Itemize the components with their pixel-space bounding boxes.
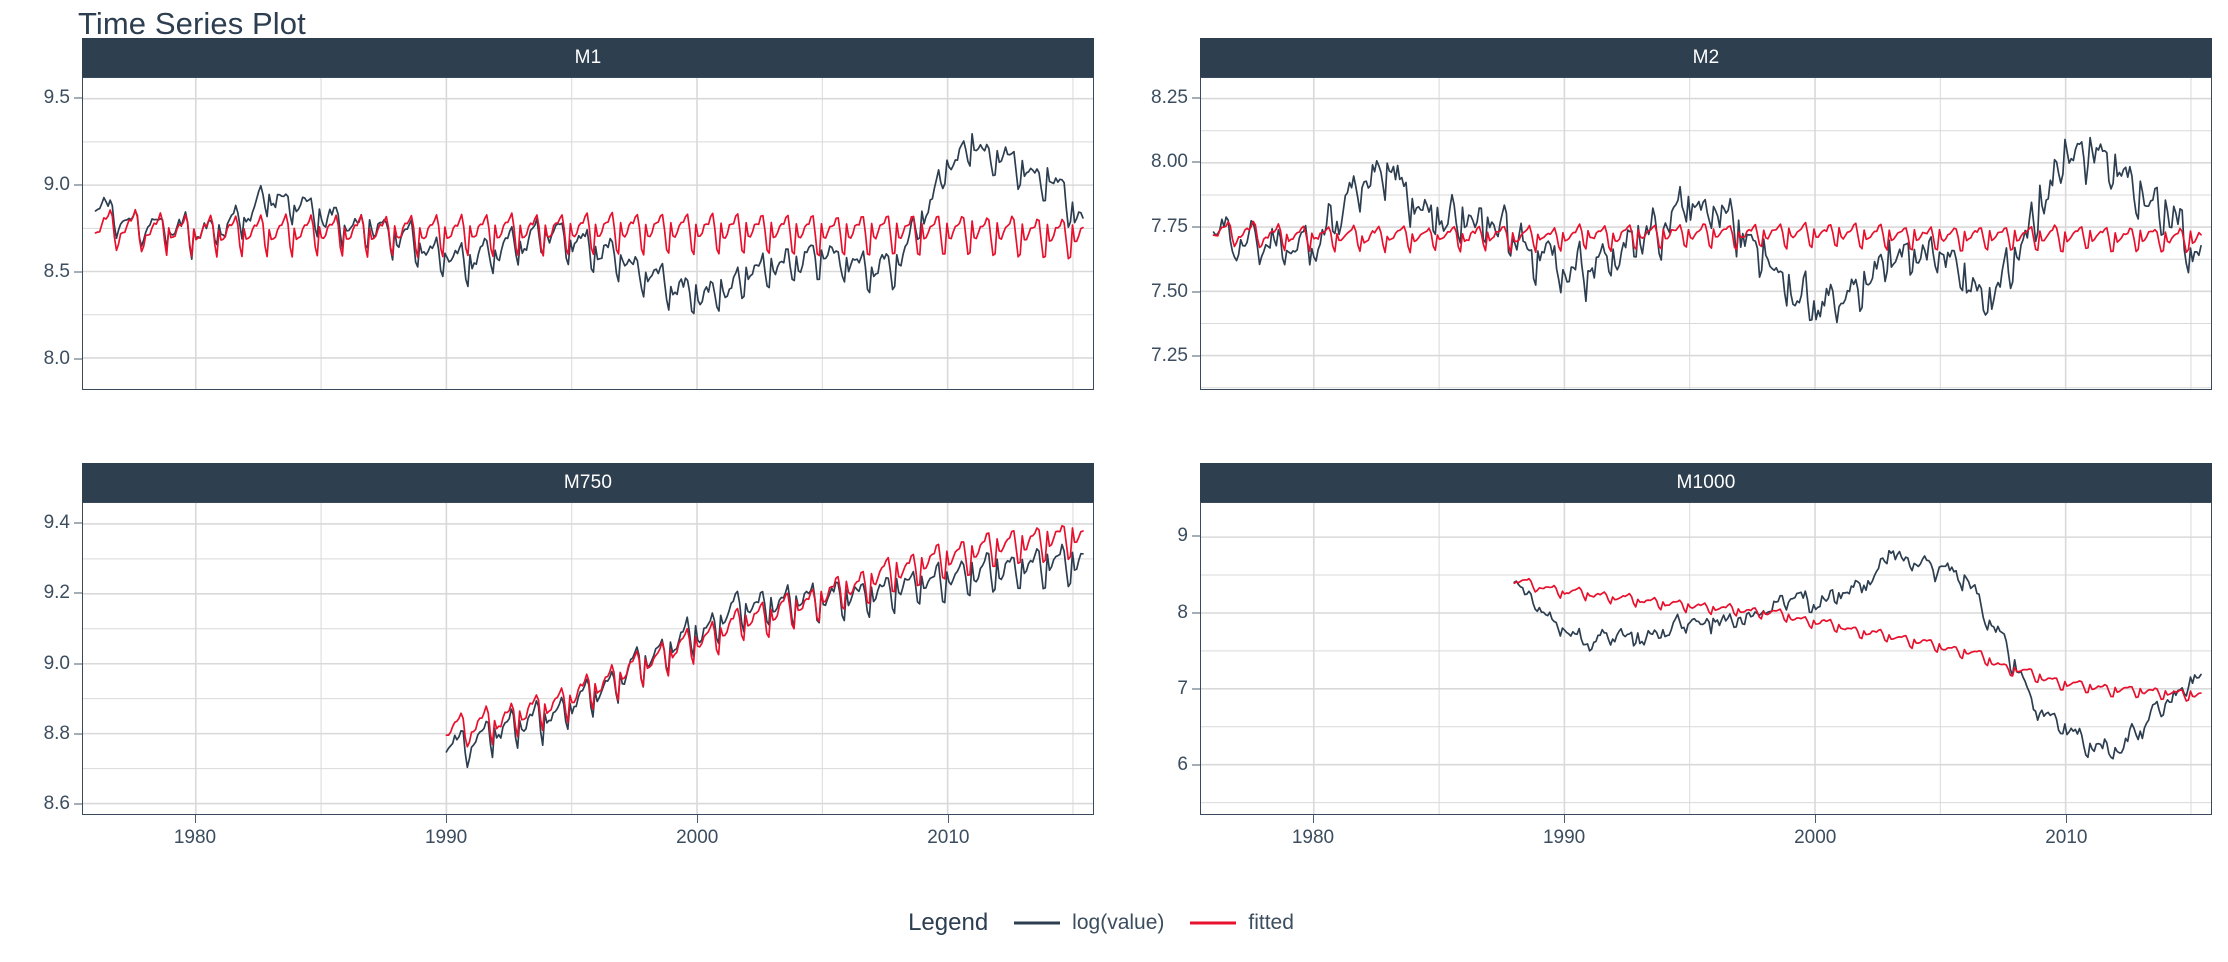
strip-label: M1 [575,47,602,69]
x-axis-m1000: 1980199020002010 [1200,815,2212,855]
y-axis-tick-mark [74,593,82,594]
y-axis-tick-label: 6 [1177,754,1188,776]
y-axis-tick-mark [74,271,82,272]
plot-area-m1000 [1200,502,2212,815]
line-key-observed [1014,914,1060,932]
y-axis-tick-mark [74,358,82,359]
y-axis-tick-mark [1192,689,1200,690]
time-series-plot-root: Time Series Plot M18.08.59.09.5M27.257.5… [0,0,2228,962]
y-axis-tick-label: 8.00 [1151,151,1188,173]
y-axis-m1000: 6789 [1110,502,1200,815]
y-axis-tick-label: 9.4 [44,512,70,534]
legend-label-fitted: fitted [1248,911,1294,935]
facet-strip-m750: M750 [82,463,1094,502]
facet-strip-m2: M2 [1200,38,2212,77]
x-axis-m750: 1980199020002010 [82,815,1094,855]
y-axis-tick-mark [1192,536,1200,537]
x-axis-tick-mark [195,815,196,823]
y-axis-tick-label: 7.50 [1151,281,1188,303]
facet-panel-m1: M1 [82,38,1094,390]
facet-grid: M18.08.59.09.5M27.257.507.758.008.25M750… [0,38,2228,828]
line-key-fitted [1190,914,1236,932]
x-axis-tick-label: 2000 [1794,827,1836,849]
x-axis-tick-label: 1990 [1543,827,1585,849]
series-line-fitted [1514,579,2201,701]
y-axis-tick-label: 9.5 [44,87,70,109]
y-axis-tick-label: 8.25 [1151,87,1188,109]
page-title: Time Series Plot [78,6,306,42]
strip-label: M750 [564,472,612,494]
strip-label: M1000 [1676,472,1735,494]
plot-area-m1 [82,77,1094,390]
y-axis-tick-label: 8.8 [44,723,70,745]
y-axis-tick-mark [1192,356,1200,357]
y-axis-tick-mark [74,804,82,805]
x-axis-tick-mark [1313,815,1314,823]
y-axis-tick-label: 8 [1177,602,1188,624]
y-axis-tick-label: 9.0 [44,174,70,196]
y-axis-tick-mark [1192,765,1200,766]
x-axis-tick-label: 2000 [676,827,718,849]
plot-area-m2 [1200,77,2212,390]
facet-strip-m1000: M1000 [1200,463,2212,502]
y-axis-tick-label: 9 [1177,525,1188,547]
y-axis-tick-mark [74,734,82,735]
y-axis-tick-mark [74,663,82,664]
x-axis-tick-mark [1815,815,1816,823]
legend-label-observed: log(value) [1072,911,1164,935]
y-axis-m2: 7.257.507.758.008.25 [1110,77,1200,390]
y-axis-tick-label: 8.0 [44,348,70,370]
x-axis-tick-mark [1564,815,1565,823]
y-axis-tick-label: 7.25 [1151,345,1188,367]
y-axis-tick-mark [1192,162,1200,163]
legend-item-fitted[interactable]: fitted [1190,911,1294,935]
strip-label: M2 [1693,47,1720,69]
y-axis-tick-mark [1192,612,1200,613]
x-axis-tick-mark [948,815,949,823]
y-axis-tick-label: 8.6 [44,793,70,815]
y-axis-tick-label: 8.5 [44,261,70,283]
y-axis-m750: 8.68.89.09.29.4 [0,502,82,815]
y-axis-tick-label: 7.75 [1151,216,1188,238]
x-axis-tick-label: 1980 [1292,827,1334,849]
y-axis-m1: 8.08.59.09.5 [0,77,82,390]
plot-area-m750 [82,502,1094,815]
y-axis-tick-mark [1192,97,1200,98]
y-axis-tick-label: 9.0 [44,653,70,675]
x-axis-tick-mark [697,815,698,823]
x-axis-tick-label: 1980 [174,827,216,849]
series-line-fitted [1214,222,2201,253]
y-axis-tick-mark [74,97,82,98]
facet-panel-m1000: M1000 [1200,463,2212,815]
x-axis-tick-mark [446,815,447,823]
x-axis-tick-mark [2066,815,2067,823]
facet-strip-m1: M1 [82,38,1094,77]
legend: Legend log(value) fitted [0,900,2228,946]
x-axis-tick-label: 1990 [425,827,467,849]
y-axis-tick-mark [1192,227,1200,228]
y-axis-tick-mark [74,523,82,524]
facet-panel-m750: M750 [82,463,1094,815]
legend-item-observed[interactable]: log(value) [1014,911,1164,935]
series-line-observed [1514,551,2201,759]
legend-title: Legend [908,909,988,937]
facet-panel-m2: M2 [1200,38,2212,390]
y-axis-tick-label: 9.2 [44,582,70,604]
y-axis-tick-label: 7 [1177,678,1188,700]
y-axis-tick-mark [74,184,82,185]
x-axis-tick-label: 2010 [927,827,969,849]
y-axis-tick-mark [1192,291,1200,292]
x-axis-tick-label: 2010 [2045,827,2087,849]
